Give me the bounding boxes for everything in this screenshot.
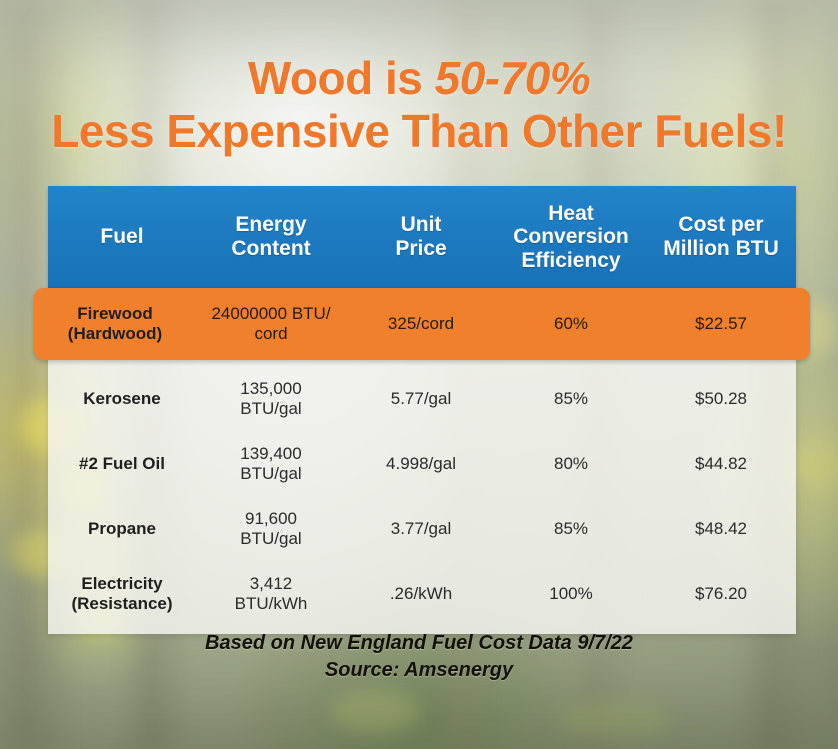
table-row-firewood-highlighted: Firewood (Hardwood) 24000000 BTU/ cord 3… [34,288,810,360]
cell-fuel-name: Electricity (Resistance) [48,574,196,613]
table-standard-rows: Kerosene 135,000 BTU/gal 5.77/gal 85% $5… [48,360,796,634]
cell-fuel-name: Propane [48,519,196,539]
column-header-unit-price: Unit Price [346,213,496,260]
fuel-comparison-table: Fuel Energy Content Unit Price Heat Conv… [48,186,796,634]
source-line-2: Source: Amsenergy [0,657,838,684]
source-attribution: Based on New England Fuel Cost Data 9/7/… [0,630,838,684]
table-row: Propane 91,600 BTU/gal 3.77/gal 85% $48.… [48,496,796,561]
table-row: Kerosene 135,000 BTU/gal 5.77/gal 85% $5… [48,366,796,431]
cell-cost-per-million-btu: $76.20 [646,584,796,604]
table-header-row: Fuel Energy Content Unit Price Heat Conv… [48,186,796,288]
title-plain-text: Wood is [248,52,435,104]
column-header-energy-content: Energy Content [196,213,346,260]
cell-energy-content: 139,400 BTU/gal [196,444,346,483]
cell-fuel-name: #2 Fuel Oil [48,454,196,474]
cell-efficiency: 85% [496,519,646,539]
column-header-cost-per-million-btu: Cost per Million BTU [646,213,796,260]
cell-unit-price: 4.998/gal [346,454,496,474]
cell-cost-per-million-btu: $50.28 [646,389,796,409]
column-header-fuel: Fuel [48,225,196,249]
cell-unit-price: 325/cord [346,314,496,334]
cell-energy-content: 24000000 BTU/ cord [196,304,346,343]
cell-efficiency: 80% [496,454,646,474]
column-header-heat-conversion-efficiency: Heat Conversion Efficiency [496,202,646,273]
cell-cost-per-million-btu: $22.57 [646,314,796,334]
cell-energy-content: 3,412 BTU/kWh [196,574,346,613]
title-line-1: Wood is 50-70% [0,55,838,102]
cell-cost-per-million-btu: $48.42 [646,519,796,539]
cell-unit-price: .26/kWh [346,584,496,604]
cell-efficiency: 60% [496,314,646,334]
poster-title: Wood is 50-70% Less Expensive Than Other… [0,55,838,155]
title-line-2: Less Expensive Than Other Fuels! [0,108,838,155]
cell-energy-content: 135,000 BTU/gal [196,379,346,418]
cell-unit-price: 3.77/gal [346,519,496,539]
cell-cost-per-million-btu: $44.82 [646,454,796,474]
table-row: #2 Fuel Oil 139,400 BTU/gal 4.998/gal 80… [48,431,796,496]
cell-fuel-name: Firewood (Hardwood) [34,304,196,343]
cell-unit-price: 5.77/gal [346,389,496,409]
table-row: Electricity (Resistance) 3,412 BTU/kWh .… [48,561,796,626]
source-line-1: Based on New England Fuel Cost Data 9/7/… [0,630,838,657]
table-body: Firewood (Hardwood) 24000000 BTU/ cord 3… [48,288,796,634]
cell-efficiency: 85% [496,389,646,409]
infographic-poster: Wood is 50-70% Less Expensive Than Other… [0,0,838,749]
title-emphasis-text: 50-70% [435,52,591,104]
cell-energy-content: 91,600 BTU/gal [196,509,346,548]
cell-efficiency: 100% [496,584,646,604]
cell-fuel-name: Kerosene [48,389,196,409]
